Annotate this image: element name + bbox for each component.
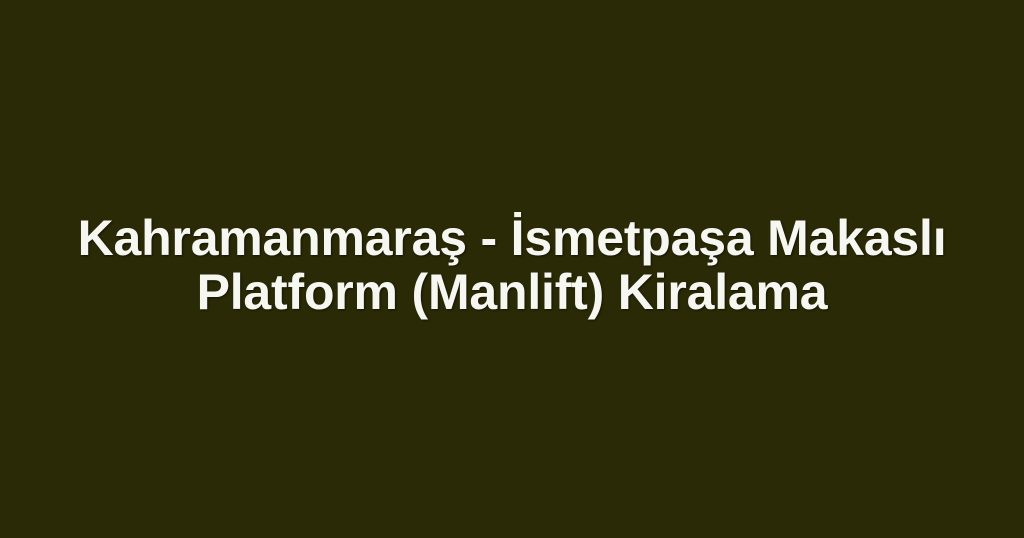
page-title-line-1: Kahramanmaraş - İsmetpaşa Makaslı xyxy=(40,211,984,265)
page-title-line-2: Platform (Manlift) Kiralama xyxy=(40,265,984,319)
preview-card: Kahramanmaraş - İsmetpaşa Makaslı Platfo… xyxy=(0,0,1024,538)
page-title: Kahramanmaraş - İsmetpaşa Makaslı Platfo… xyxy=(0,211,1024,319)
